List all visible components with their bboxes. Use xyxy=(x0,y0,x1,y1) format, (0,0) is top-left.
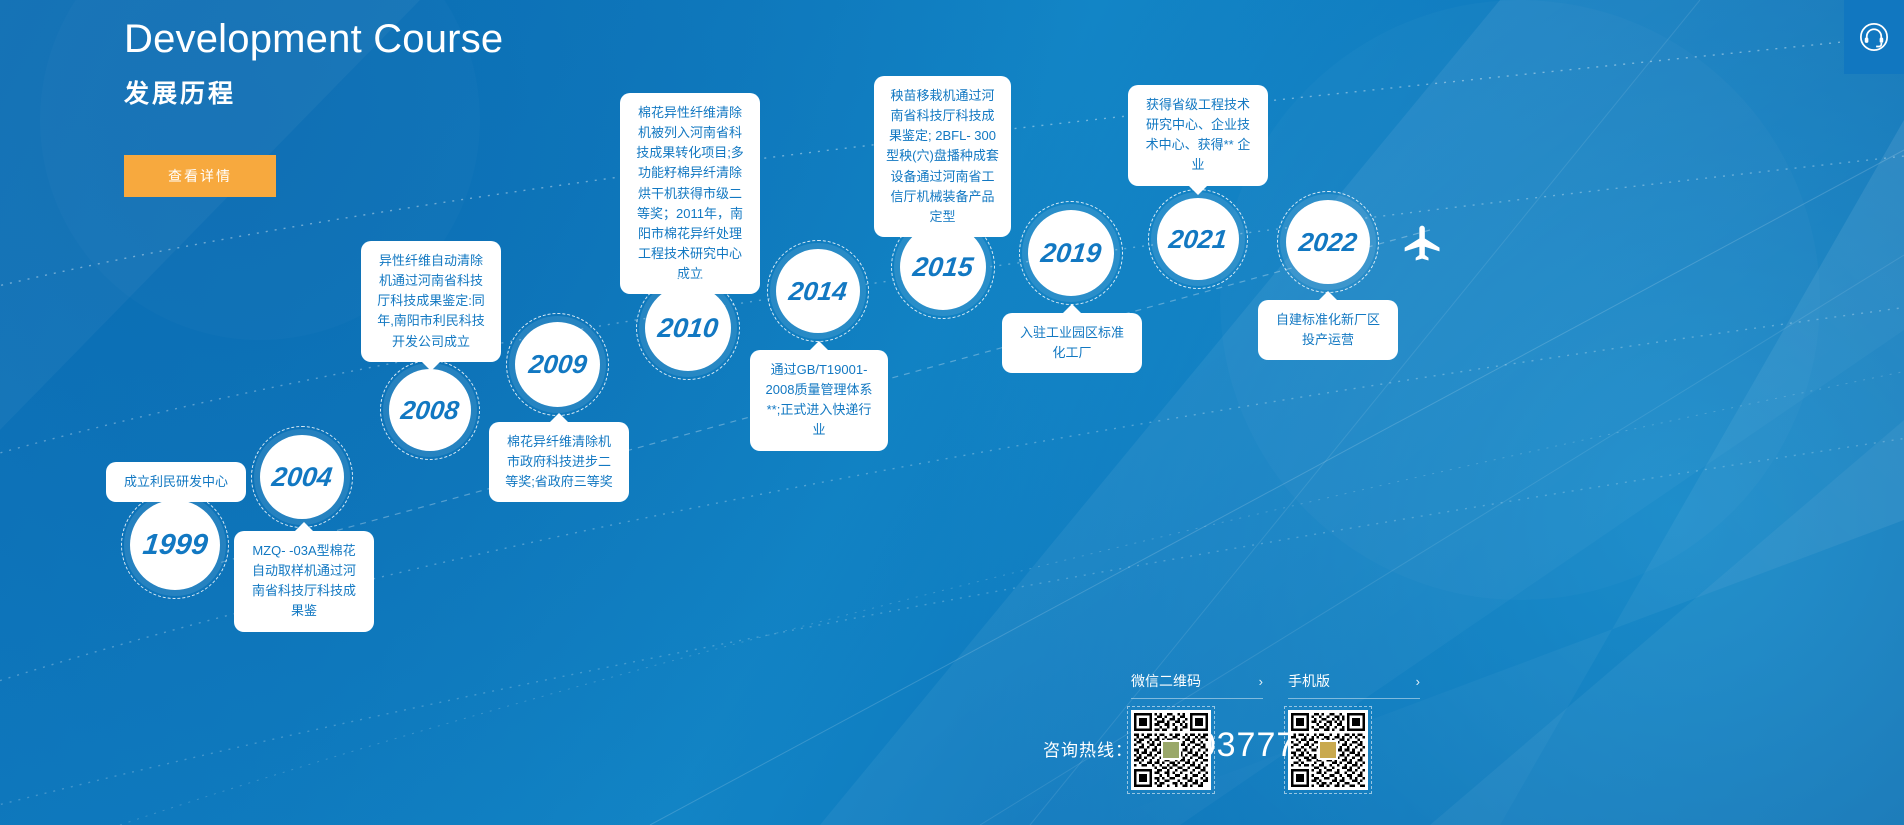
timeline-year-label: 2014 xyxy=(787,276,849,307)
timeline-callout-2014: 通过GB/T19001-2008质量管理体系**;正式进入快递行业 xyxy=(750,350,888,451)
timeline-year-label: 2010 xyxy=(656,313,720,344)
qr-group-mobile: 手机版 › xyxy=(1288,671,1398,790)
timeline-callout-text: 棉花异纤维清除机市政府科技进步二等奖;省政府三等奖 xyxy=(505,434,613,489)
page-title-en: Development Course xyxy=(124,14,503,64)
timeline-year-2010[interactable]: 2010 xyxy=(645,285,731,371)
timeline-year-2008[interactable]: 2008 xyxy=(389,369,471,451)
timeline-callout-text: 秧苗移栽机通过河南省科技厅科技成果鉴定; 2BFL- 300型秧(穴)盘播种成套… xyxy=(886,88,999,224)
development-course-page: Development Course 发展历程 查看详情 成立利民研发中心 19… xyxy=(0,0,1904,825)
qr-center-logo xyxy=(1161,740,1181,760)
timeline-callout-2015: 秧苗移栽机通过河南省科技厅科技成果鉴定; 2BFL- 300型秧(穴)盘播种成套… xyxy=(874,76,1011,237)
timeline-callout-2010: 棉花异性纤维清除机被列入河南省科技成果转化项目;多功能籽棉异纤清除烘干机获得市级… xyxy=(620,93,760,294)
timeline-year-label: 2021 xyxy=(1167,224,1229,255)
timeline-year-2021[interactable]: 2021 xyxy=(1157,198,1239,280)
timeline-callout-2019: 入驻工业园区标准化工厂 xyxy=(1002,313,1142,373)
qr-center-logo xyxy=(1318,740,1338,760)
timeline-year-1999[interactable]: 1999 xyxy=(130,500,220,590)
timeline-year-2019[interactable]: 2019 xyxy=(1028,210,1114,296)
timeline-callout-text: 成立利民研发中心 xyxy=(124,474,228,489)
timeline-callout-text: 棉花异性纤维清除机被列入河南省科技成果转化项目;多功能籽棉异纤清除烘干机获得市级… xyxy=(636,105,744,281)
page-title-cn: 发展历程 xyxy=(124,74,503,110)
timeline-year-label: 2022 xyxy=(1297,227,1359,258)
timeline-year-label: 2008 xyxy=(399,395,461,426)
callout-arrow-icon xyxy=(1318,291,1338,301)
timeline-callout-2021: 获得省级工程技术研究中心、企业技术中心、获得** 企业 xyxy=(1128,85,1268,186)
qr-code-mobile xyxy=(1288,710,1368,790)
customer-service-button[interactable] xyxy=(1844,0,1904,74)
airplane-glyph xyxy=(1400,222,1446,266)
callout-arrow-icon xyxy=(809,341,829,351)
qr-label: 手机版 xyxy=(1288,671,1330,691)
timeline-callout-2022: 自建标准化新厂区投产运营 xyxy=(1258,300,1398,360)
timeline-callout-text: 入驻工业园区标准化工厂 xyxy=(1020,325,1124,360)
timeline-year-2015[interactable]: 2015 xyxy=(900,224,986,310)
callout-arrow-icon xyxy=(1062,304,1082,314)
qr-code-wechat xyxy=(1131,710,1211,790)
timeline-year-label: 2019 xyxy=(1039,238,1103,269)
callout-arrow-icon xyxy=(294,522,314,532)
timeline-year-label: 1999 xyxy=(141,529,210,562)
headset-icon xyxy=(1859,22,1889,52)
qr-header-wechat[interactable]: 微信二维码 › xyxy=(1131,671,1263,699)
timeline-callout-text: 异性纤维自动清除机通过河南省科技厅科技成果鉴定:同年,南阳市利民科技开发公司成立 xyxy=(377,253,485,349)
qr-label: 微信二维码 xyxy=(1131,671,1201,691)
timeline-callout-2008: 异性纤维自动清除机通过河南省科技厅科技成果鉴定:同年,南阳市利民科技开发公司成立 xyxy=(361,241,501,362)
timeline-callout-text: 通过GB/T19001-2008质量管理体系**;正式进入快递行业 xyxy=(766,362,873,437)
timeline-year-label: 2009 xyxy=(527,349,589,380)
view-detail-button[interactable]: 查看详情 xyxy=(124,155,276,197)
timeline-year-label: 2004 xyxy=(270,462,334,493)
timeline-year-2014[interactable]: 2014 xyxy=(776,249,860,333)
timeline-year-label: 2015 xyxy=(911,252,975,283)
qr-header-mobile[interactable]: 手机版 › xyxy=(1288,671,1420,699)
qr-group-wechat: 微信二维码 › xyxy=(1131,671,1241,790)
callout-arrow-icon xyxy=(549,413,569,423)
timeline-callout-2009: 棉花异纤维清除机市政府科技进步二等奖;省政府三等奖 xyxy=(489,422,629,502)
timeline-callout-text: MZQ- -03A型棉花自动取样机通过河南省科技厅科技成果鉴 xyxy=(252,543,356,618)
hotline-label: 咨询热线： xyxy=(1043,736,1133,761)
page-header: Development Course 发展历程 xyxy=(124,14,503,110)
timeline-year-2009[interactable]: 2009 xyxy=(515,322,600,407)
chevron-right-icon: › xyxy=(1416,674,1420,689)
timeline-year-2004[interactable]: 2004 xyxy=(260,435,344,519)
airplane-icon xyxy=(1400,222,1446,273)
timeline-callout-text: 自建标准化新厂区投产运营 xyxy=(1276,312,1380,347)
timeline-year-2022[interactable]: 2022 xyxy=(1286,200,1370,284)
chevron-right-icon: › xyxy=(1259,674,1263,689)
timeline-callout-text: 获得省级工程技术研究中心、企业技术中心、获得** 企业 xyxy=(1146,97,1251,172)
timeline-callout-2004: MZQ- -03A型棉花自动取样机通过河南省科技厅科技成果鉴 xyxy=(234,531,374,632)
